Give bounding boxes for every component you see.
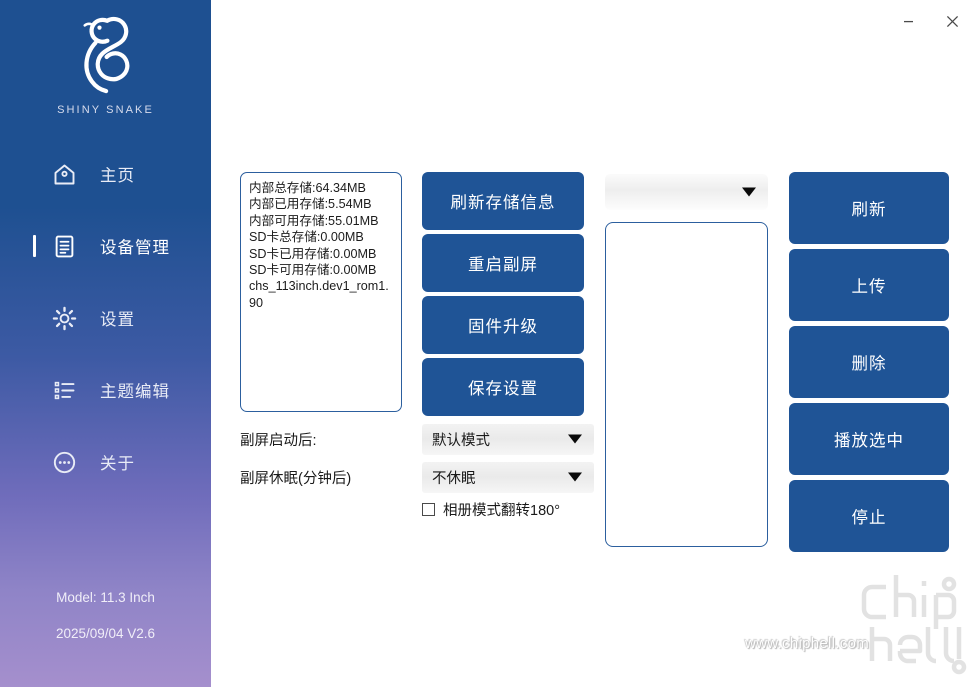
chiphell-logo-icon (846, 569, 971, 677)
sleep-minutes-row: 副屏休眠(分钟后) 不休眠 (240, 461, 600, 493)
storage-info-textarea[interactable]: 内部总存储:64.34MB 内部已用存储:5.54MB 内部可用存储:55.01… (240, 172, 402, 412)
sidebar: SHINY SNAKE 主页 (0, 0, 211, 687)
gear-icon (49, 303, 79, 333)
sidebar-item-settings[interactable]: 设置 (0, 282, 211, 354)
upload-button[interactable]: 上传 (789, 249, 949, 321)
sidebar-footer: Model: 11.3 Inch 2025/09/04 V2.6 (0, 591, 211, 640)
minimize-icon (902, 15, 915, 28)
file-source-select[interactable] (605, 174, 768, 210)
chevron-down-icon (742, 188, 756, 197)
sidebar-item-home[interactable]: 主页 (0, 138, 211, 210)
play-selected-button[interactable]: 播放选中 (789, 403, 949, 475)
startup-mode-row: 副屏启动后: 默认模式 (240, 423, 600, 455)
save-settings-button[interactable]: 保存设置 (422, 358, 584, 416)
sleep-minutes-value: 不休眠 (432, 467, 476, 488)
file-actions-column: 刷新 上传 删除 播放选中 停止 (789, 172, 949, 557)
startup-mode-select[interactable]: 默认模式 (422, 424, 594, 455)
main-content: 内部总存储:64.34MB 内部已用存储:5.54MB 内部可用存储:55.01… (211, 0, 979, 687)
sidebar-item-label: 主页 (100, 162, 135, 186)
active-indicator (33, 235, 36, 257)
home-icon (49, 159, 79, 189)
settings-panel: 副屏启动后: 默认模式 副屏休眠(分钟后) 不休眠 相册模式翻转180° (240, 423, 600, 520)
delete-button[interactable]: 删除 (789, 326, 949, 398)
flip-album-mode-label: 相册模式翻转180° (443, 499, 560, 520)
minimize-button[interactable] (889, 4, 927, 38)
sidebar-item-about[interactable]: 关于 (0, 426, 211, 498)
close-button[interactable] (933, 4, 971, 38)
brand-name: SHINY SNAKE (0, 104, 211, 116)
device-document-icon (49, 231, 79, 261)
sidebar-item-label: 设置 (100, 306, 135, 330)
startup-mode-value: 默认模式 (432, 429, 490, 450)
chevron-down-icon (568, 435, 582, 444)
device-model-text: Model: 11.3 Inch (0, 591, 211, 605)
watermark: www.chiphell.com (743, 567, 973, 677)
brand-block: SHINY SNAKE (0, 14, 211, 116)
sleep-minutes-select[interactable]: 不休眠 (422, 462, 594, 493)
device-actions-column: 刷新存储信息 重启副屏 固件升级 保存设置 (422, 172, 584, 420)
sidebar-item-label: 关于 (100, 450, 135, 474)
storage-info-text: 内部总存储:64.34MB 内部已用存储:5.54MB 内部可用存储:55.01… (249, 180, 393, 311)
sidebar-item-theme-editor[interactable]: 主题编辑 (0, 354, 211, 426)
about-dots-icon (49, 447, 79, 477)
app-version-text: 2025/09/04 V2.6 (0, 627, 211, 641)
restart-secondary-screen-button[interactable]: 重启副屏 (422, 234, 584, 292)
snake-logo-icon (0, 14, 211, 96)
flip-album-mode-row: 相册模式翻转180° (422, 499, 600, 520)
stop-button[interactable]: 停止 (789, 480, 949, 552)
sleep-minutes-label: 副屏休眠(分钟后) (240, 467, 422, 488)
sidebar-item-label: 主题编辑 (100, 378, 170, 402)
sidebar-item-device-management[interactable]: 设备管理 (0, 210, 211, 282)
refresh-button[interactable]: 刷新 (789, 172, 949, 244)
sidebar-item-label: 设备管理 (100, 234, 170, 258)
firmware-upgrade-button[interactable]: 固件升级 (422, 296, 584, 354)
close-icon (945, 14, 960, 29)
flip-album-mode-checkbox[interactable] (422, 503, 435, 516)
file-list-panel[interactable] (605, 222, 768, 547)
watermark-url: www.chiphell.com (745, 635, 869, 652)
list-edit-icon (49, 375, 79, 405)
startup-mode-label: 副屏启动后: (240, 429, 422, 450)
window-controls (889, 4, 971, 38)
chevron-down-icon (568, 473, 582, 482)
app-window: SHINY SNAKE 主页 (0, 0, 979, 687)
sidebar-nav: 主页 设备管理 (0, 138, 211, 498)
refresh-storage-info-button[interactable]: 刷新存储信息 (422, 172, 584, 230)
